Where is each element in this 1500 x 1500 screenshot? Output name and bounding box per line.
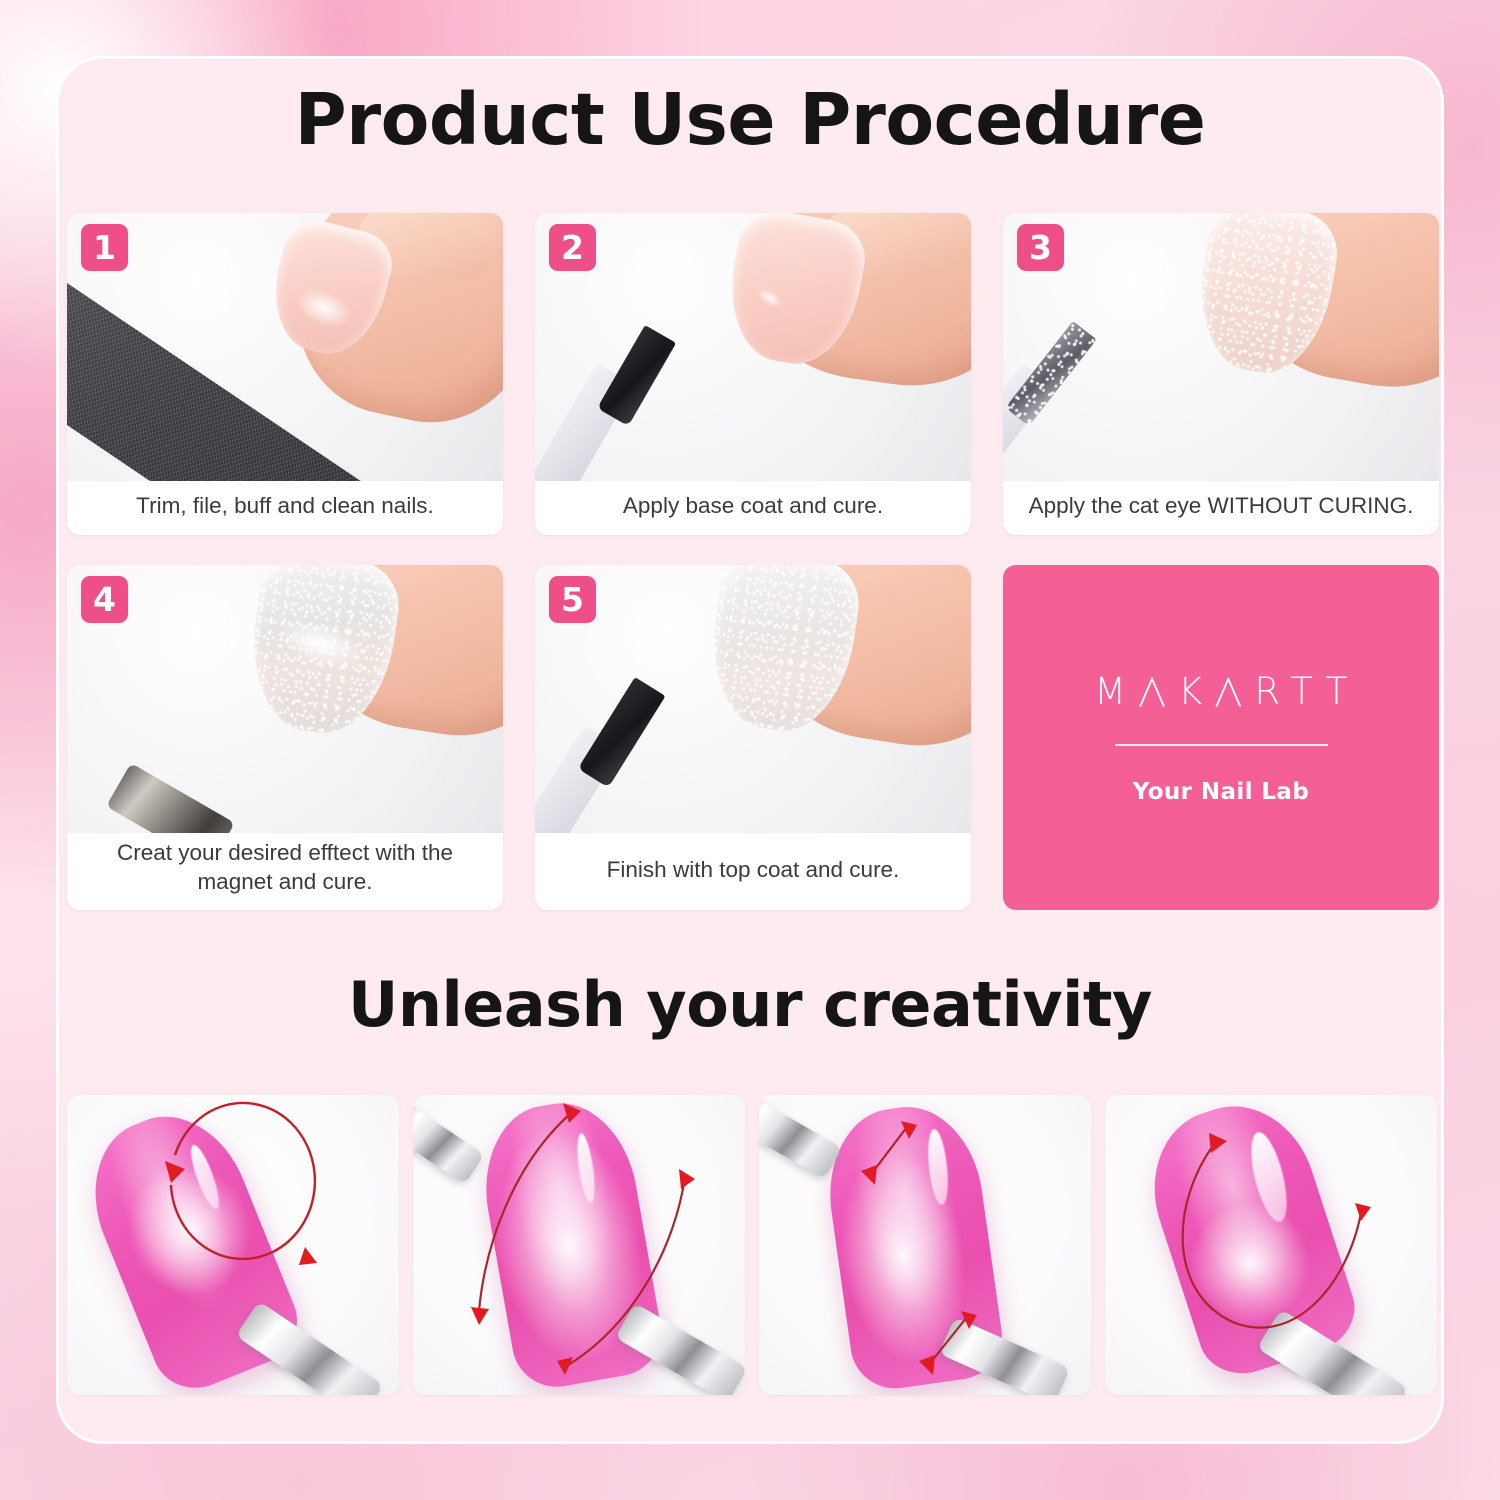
step-caption: Apply the cat eye WITHOUT CURING.: [1003, 481, 1439, 535]
step-card: 4 Creat your desired efftect with the ma…: [67, 565, 503, 911]
step-caption: Creat your desired efftect with the magn…: [67, 833, 503, 911]
step-caption: Apply base coat and cure.: [535, 481, 971, 535]
dual-curve-arrow-icon: [413, 1095, 745, 1395]
step-number-badge: 1: [81, 224, 128, 271]
step-number-badge: 3: [1017, 224, 1064, 271]
magnet-effect-photo: 4: [67, 565, 503, 833]
section-subtitle: Unleash your creativity: [59, 971, 1441, 1039]
infographic-page: Product Use Procedure 1 Trim, file, buff…: [0, 0, 1500, 1500]
brand-divider: [1115, 744, 1328, 746]
creativity-card-wide-arc: [1105, 1095, 1437, 1395]
creativity-card-diagonal-pull: [759, 1095, 1091, 1395]
page-title: Product Use Procedure: [59, 81, 1441, 159]
u-arc-arrow-icon: [1105, 1095, 1437, 1395]
base-coat-brush-photo: 2: [535, 213, 971, 481]
brand-letter-a-triangle: [1139, 677, 1165, 707]
step-card: 2 Apply base coat and cure.: [535, 213, 971, 535]
brand-letter-a-triangle: [1215, 677, 1241, 707]
step-number-badge: 4: [81, 576, 128, 623]
brand-letters-rtt: RTT: [1254, 670, 1361, 713]
brand-letter-k: K: [1178, 670, 1215, 713]
brand-letter-m: M: [1094, 670, 1139, 713]
content-panel: Product Use Procedure 1 Trim, file, buff…: [56, 56, 1444, 1444]
steps-grid: 1 Trim, file, buff and clean nails. 2 Ap…: [67, 213, 1439, 910]
cat-eye-polish-photo: 3: [1003, 213, 1439, 481]
step-card: 5 Finish with top coat and cure.: [535, 565, 971, 911]
brand-card: M K RTT Your Nail Lab: [1003, 565, 1439, 911]
top-coat-brush-photo: 5: [535, 565, 971, 833]
brand-logo-text: M K RTT: [1081, 670, 1361, 713]
circular-arrow-icon: [67, 1095, 399, 1395]
dual-straight-arrow-icon: [759, 1095, 1091, 1395]
step-caption: Trim, file, buff and clean nails.: [67, 481, 503, 535]
step-card: 1 Trim, file, buff and clean nails.: [67, 213, 503, 535]
creativity-grid: [67, 1095, 1439, 1395]
creativity-card-vertical-sweep: [413, 1095, 745, 1395]
step-number-badge: 2: [549, 224, 596, 271]
brand-tagline: Your Nail Lab: [1133, 779, 1309, 805]
step-caption: Finish with top coat and cure.: [535, 833, 971, 911]
creativity-card-circular-swirl: [67, 1095, 399, 1395]
step-number-badge: 5: [549, 576, 596, 623]
nail-file-photo: 1: [67, 213, 503, 481]
step-card: 3 Apply the cat eye WITHOUT CURING.: [1003, 213, 1439, 535]
